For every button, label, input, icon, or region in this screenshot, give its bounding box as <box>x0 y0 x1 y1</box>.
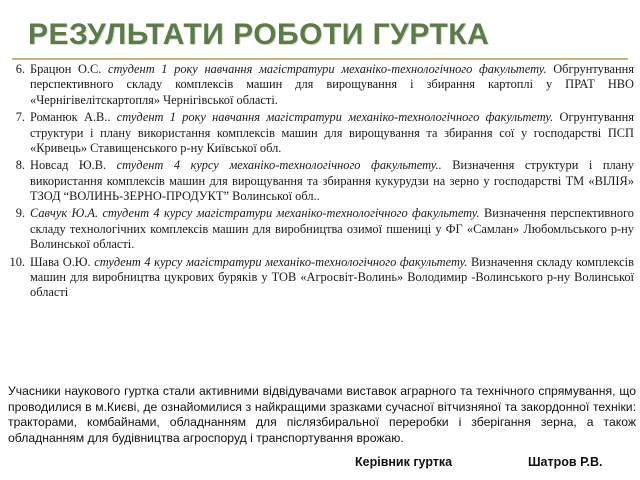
results-list: 6. Брацюн О.С. студент 1 року навчання м… <box>8 62 634 303</box>
list-item-italic: студент 4 курсу магістратури механіко-те… <box>94 255 467 269</box>
title-divider <box>12 58 628 60</box>
list-item-text: Романюк А.В.. студент 1 року навчання ма… <box>30 110 634 156</box>
list-item-italic: студент 4 курсу магістратури механіко-те… <box>102 206 479 220</box>
signature-name: Шатров Р.В. <box>528 455 603 469</box>
list-item-text: Новсад Ю.В. студент 4 курсу механіко-тех… <box>30 158 634 204</box>
list-item-lead: Новсад Ю.В. <box>30 158 106 172</box>
list-item-lead: Романюк А.В.. <box>30 110 111 124</box>
summary-paragraph: Учасники наукового гуртка стали активним… <box>8 384 636 446</box>
list-item-number: 6. <box>8 62 30 77</box>
list-item-number: 8. <box>8 158 30 173</box>
list-item-number: 9. <box>8 206 30 221</box>
list-item-text: Брацюн О.С. студент 1 року навчання магі… <box>30 62 634 108</box>
list-item-lead: Савчук Ю.А. <box>30 206 98 220</box>
list-item-italic: студент 1 року навчання магістратури мех… <box>117 110 553 124</box>
signature-row: Керівник гуртка Шатров Р.В. <box>0 455 640 480</box>
slide-root: Результати роботи гуртка 6. Брацюн О.С. … <box>0 0 640 480</box>
list-item: 8. Новсад Ю.В. студент 4 курсу механіко-… <box>8 158 634 204</box>
list-item-number: 10. <box>8 255 30 270</box>
list-item-lead: Шава О.Ю. <box>30 255 91 269</box>
page-title: Результати роботи гуртка <box>28 18 489 52</box>
list-item-number: 7. <box>8 110 30 125</box>
list-item: 10. Шава О.Ю. студент 4 курсу магістрату… <box>8 255 634 301</box>
list-item-italic: студент 1 року навчання магістратури мех… <box>108 62 547 76</box>
list-item: 6. Брацюн О.С. студент 1 року навчання м… <box>8 62 634 108</box>
list-item-italic: студент 4 курсу механіко-технологічного … <box>117 158 442 172</box>
list-item: 7. Романюк А.В.. студент 1 року навчання… <box>8 110 634 156</box>
signature-role: Керівник гуртка <box>355 455 452 469</box>
list-item-text: Савчук Ю.А. студент 4 курсу магістратури… <box>30 206 634 252</box>
list-item: 9. Савчук Ю.А. студент 4 курсу магістрат… <box>8 206 634 252</box>
list-item-text: Шава О.Ю. студент 4 курсу магістратури м… <box>30 255 634 301</box>
list-item-lead: Брацюн О.С. <box>30 62 101 76</box>
